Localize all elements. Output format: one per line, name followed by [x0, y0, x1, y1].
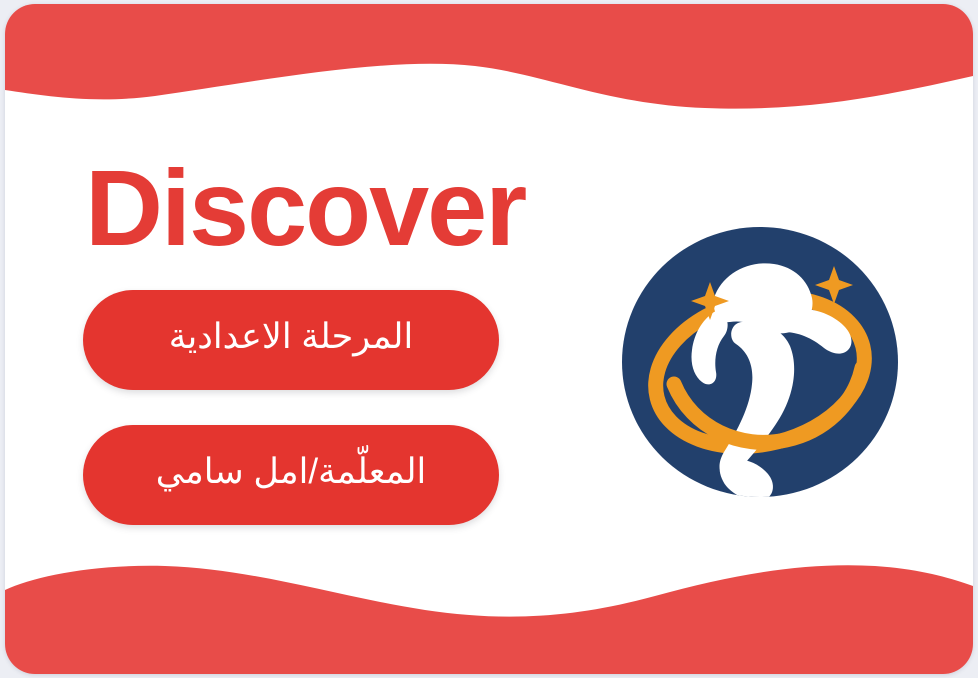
stage-pill-label: المرحلة الاعدادية — [169, 317, 413, 357]
teacher-pill-label: المعلّمة/امل سامي — [156, 452, 426, 492]
school-logo — [618, 224, 902, 501]
top-wave-decoration — [5, 4, 973, 124]
stage-pill[interactable]: المرحلة الاعدادية — [83, 290, 499, 390]
bottom-wave-decoration — [5, 534, 973, 674]
discover-card: Discover المرحلة الاعدادية المعلّمة/امل … — [5, 4, 973, 674]
teacher-pill[interactable]: المعلّمة/امل سامي — [83, 425, 499, 525]
school-logo-icon — [618, 224, 902, 501]
page-title: Discover — [85, 154, 525, 262]
